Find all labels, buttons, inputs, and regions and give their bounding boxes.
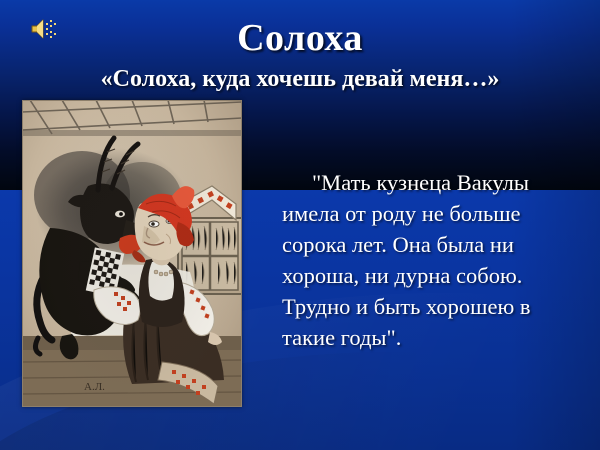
slide-title: Солоха: [0, 18, 600, 59]
slide-body-text: "Мать кузнеца Вакулы имела от роду не бо…: [282, 167, 587, 353]
illustration-image: А.Л.: [22, 100, 242, 407]
presentation-slide: Солоха «Солоха, куда хочешь девай меня…»: [0, 0, 600, 450]
slide-subtitle: «Солоха, куда хочешь девай меня…»: [0, 66, 600, 92]
